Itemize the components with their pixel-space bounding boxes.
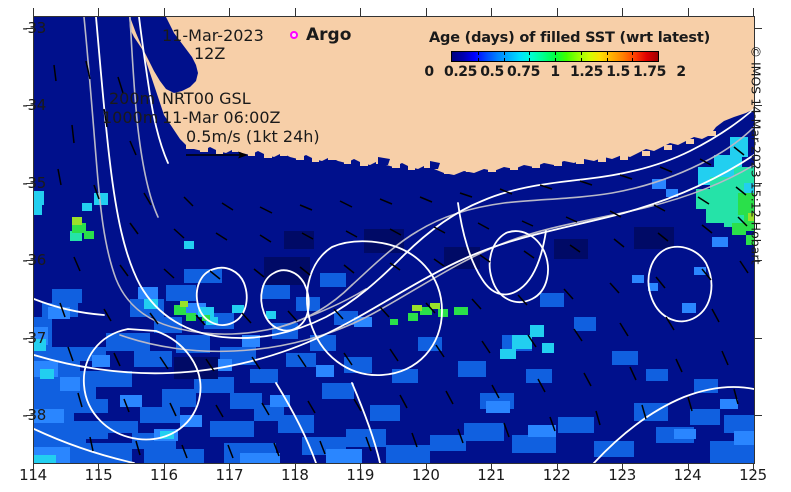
y-axis-tick-mark-right: [754, 28, 762, 29]
y-axis-tick-mark-right: [754, 338, 762, 339]
colorbar-tick-label: 1.75: [633, 64, 666, 80]
x-axis-tick-mark-top: [33, 8, 34, 16]
product-label: NRT00 GSL: [162, 90, 251, 108]
x-axis-tick-mark-top: [622, 8, 623, 16]
colorbar-gradient: [451, 51, 659, 62]
y-axis-tick-mark: [26, 338, 34, 339]
depth-1000m-label: 1000m: [102, 109, 158, 127]
colorbar-tick-label: 0: [424, 64, 433, 80]
x-axis-tick-mark: [360, 463, 361, 471]
surface-current-vector-layer: [34, 17, 754, 463]
x-axis-tick-mark-top: [229, 8, 230, 16]
colorbar-tick-label: 1: [550, 64, 559, 80]
x-axis-tick-mark: [622, 463, 623, 471]
x-axis-tick-mark: [33, 463, 34, 471]
argo-marker-icon: [290, 31, 298, 39]
figure-canvas: 11-Mar-2023 12Z 200m 1000m NRT00 GSL 11-…: [0, 0, 791, 492]
y-axis-tick-mark: [26, 28, 34, 29]
y-axis-tick-mark-right: [754, 415, 762, 416]
x-axis-tick-mark-top: [426, 8, 427, 16]
colorbar-tick-label: 0.5: [480, 64, 504, 80]
colorbar-tick-label: 0.25: [444, 64, 477, 80]
map-date-line2: 12Z: [194, 45, 225, 63]
colorbar-tick-label: 1.25: [570, 64, 603, 80]
y-axis-tick-mark: [26, 260, 34, 261]
x-axis-tick-mark: [753, 463, 754, 471]
x-axis-tick-mark: [229, 463, 230, 471]
colorbar-tick-label: 1.5: [606, 64, 630, 80]
valid-time-label: 11-Mar 06:00Z: [162, 109, 280, 127]
x-axis-tick-mark: [557, 463, 558, 471]
x-axis-tick-mark-top: [98, 8, 99, 16]
x-axis-tick-mark: [295, 463, 296, 471]
y-axis-tick-mark: [26, 183, 34, 184]
argo-legend-label: Argo: [306, 25, 351, 45]
map-plot-area[interactable]: 11-Mar-2023 12Z 200m 1000m NRT00 GSL 11-…: [33, 16, 755, 464]
colorbar-tick-label: 0.75: [507, 64, 540, 80]
x-axis-tick-mark: [688, 463, 689, 471]
colorbar: Age (days) of filled SST (wrt latest) 00…: [429, 30, 681, 82]
x-axis-tick-mark-top: [295, 8, 296, 16]
x-axis-tick-mark: [164, 463, 165, 471]
x-axis-tick-mark: [491, 463, 492, 471]
colorbar-title: Age (days) of filled SST (wrt latest): [429, 30, 681, 46]
credit-text: © IMOS 14-Mar-2023 15:12 Hobart: [749, 46, 764, 306]
x-axis-tick-mark-top: [491, 8, 492, 16]
colorbar-tick-labels: 00.250.50.7511.251.51.752: [429, 64, 681, 82]
colorbar-tick-label: 2: [676, 64, 685, 80]
x-axis-tick-mark-top: [360, 8, 361, 16]
map-date-line1: 11-Mar-2023: [162, 27, 264, 45]
velocity-scale-arrow-icon: [186, 150, 248, 160]
speed-scale-label: 0.5m/s (1kt 24h): [186, 128, 320, 146]
y-axis-tick-mark: [26, 105, 34, 106]
x-axis-tick-mark-top: [753, 8, 754, 16]
depth-200m-label: 200m: [109, 90, 155, 108]
x-axis-tick-mark-top: [164, 8, 165, 16]
x-axis-tick-mark: [98, 463, 99, 471]
x-axis-tick-mark-top: [557, 8, 558, 16]
x-axis-tick-mark: [426, 463, 427, 471]
x-axis-tick-mark-top: [688, 8, 689, 16]
argo-legend: Argo: [290, 25, 351, 45]
y-axis-tick-mark: [26, 415, 34, 416]
